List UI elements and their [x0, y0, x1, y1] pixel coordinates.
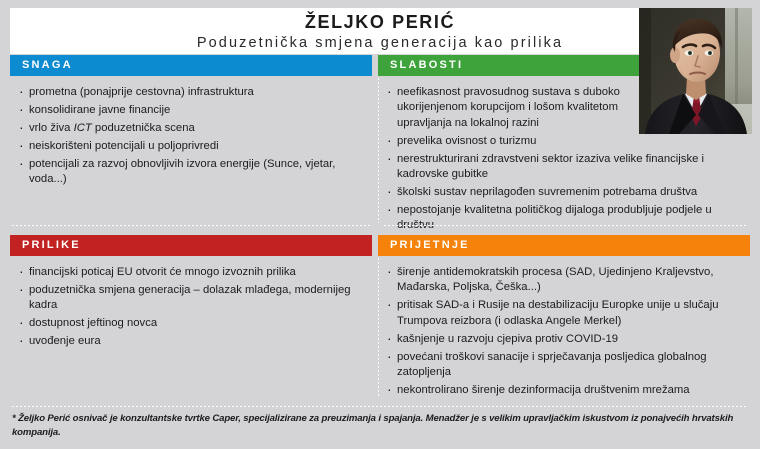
quadrant-header-threats: PRIJETNJE [378, 235, 750, 256]
quadrant-header-opportunities: PRILIKE [10, 235, 372, 256]
quadrant-header-strengths: SNAGA [10, 55, 372, 76]
list-item: nepostojanje kvalitetna političkog dijal… [386, 203, 746, 234]
strengths-list: prometna (ponajprije cestovna) infrastru… [18, 85, 368, 187]
list-item: potencijali za razvoj obnovljivih izvora… [18, 157, 368, 188]
list-item: vrlo živa ICT poduzetnička scena [18, 121, 368, 136]
portrait-photo [639, 8, 752, 134]
list-item: uvođenje eura [18, 334, 368, 349]
list-item: širenje antidemokratskih procesa (SAD, U… [386, 265, 746, 296]
quadrant-opportunities: PRILIKE financijski poticaj EU otvorit ć… [10, 235, 372, 403]
list-item: školski sustav neprilagođen suvremenim p… [386, 185, 746, 200]
list-item-emphasis: ICT [74, 122, 92, 134]
list-item-text-prefix: vrlo živa [29, 122, 74, 134]
list-item: nerestrukturirani zdravstveni sektor iza… [386, 152, 746, 183]
portrait-illustration [639, 8, 752, 134]
list-item: kašnjenje u razvoju cjepiva protiv COVID… [386, 332, 746, 347]
divider-vertical-bottom [378, 258, 379, 398]
divider-vertical-top [378, 78, 379, 223]
divider-horizontal-left [12, 225, 372, 226]
list-item: dostupnost jeftinog novca [18, 316, 368, 331]
swot-poster: ŽELJKO PERIĆ Poduzetnička smjena generac… [0, 0, 760, 449]
quadrant-body-opportunities: financijski poticaj EU otvorit će mnogo … [10, 256, 372, 350]
list-item: prevelika ovisnost o turizmu [386, 134, 746, 149]
list-item: poduzetnička smjena generacija – dolazak… [18, 283, 368, 314]
list-item: povećani troškovi sanacije i sprječavanj… [386, 350, 746, 381]
threats-list: širenje antidemokratskih procesa (SAD, U… [386, 265, 746, 398]
divider-horizontal-right [384, 225, 748, 226]
list-item: nekontrolirano širenje dezinformacija dr… [386, 383, 746, 398]
divider-footnote [12, 406, 748, 407]
list-item: neiskorišteni potencijali u poljoprivred… [18, 139, 368, 154]
list-item: konsolidirane javne financije [18, 103, 368, 118]
list-item: financijski poticaj EU otvorit će mnogo … [18, 265, 368, 280]
footnote: * Željko Perić osnivač je konzultantske … [12, 412, 748, 440]
opportunities-list: financijski poticaj EU otvorit će mnogo … [18, 265, 368, 350]
quadrant-body-strengths: prometna (ponajprije cestovna) infrastru… [10, 76, 372, 187]
quadrant-strengths: SNAGA prometna (ponajprije cestovna) inf… [10, 55, 372, 220]
list-item: pritisak SAD-a i Rusije na destabilizaci… [386, 298, 746, 329]
list-item-text-suffix: poduzetnička scena [92, 122, 195, 134]
quadrant-body-threats: širenje antidemokratskih procesa (SAD, U… [378, 256, 750, 398]
quadrant-threats: PRIJETNJE širenje antidemokratskih proce… [378, 235, 750, 403]
list-item: prometna (ponajprije cestovna) infrastru… [18, 85, 368, 100]
